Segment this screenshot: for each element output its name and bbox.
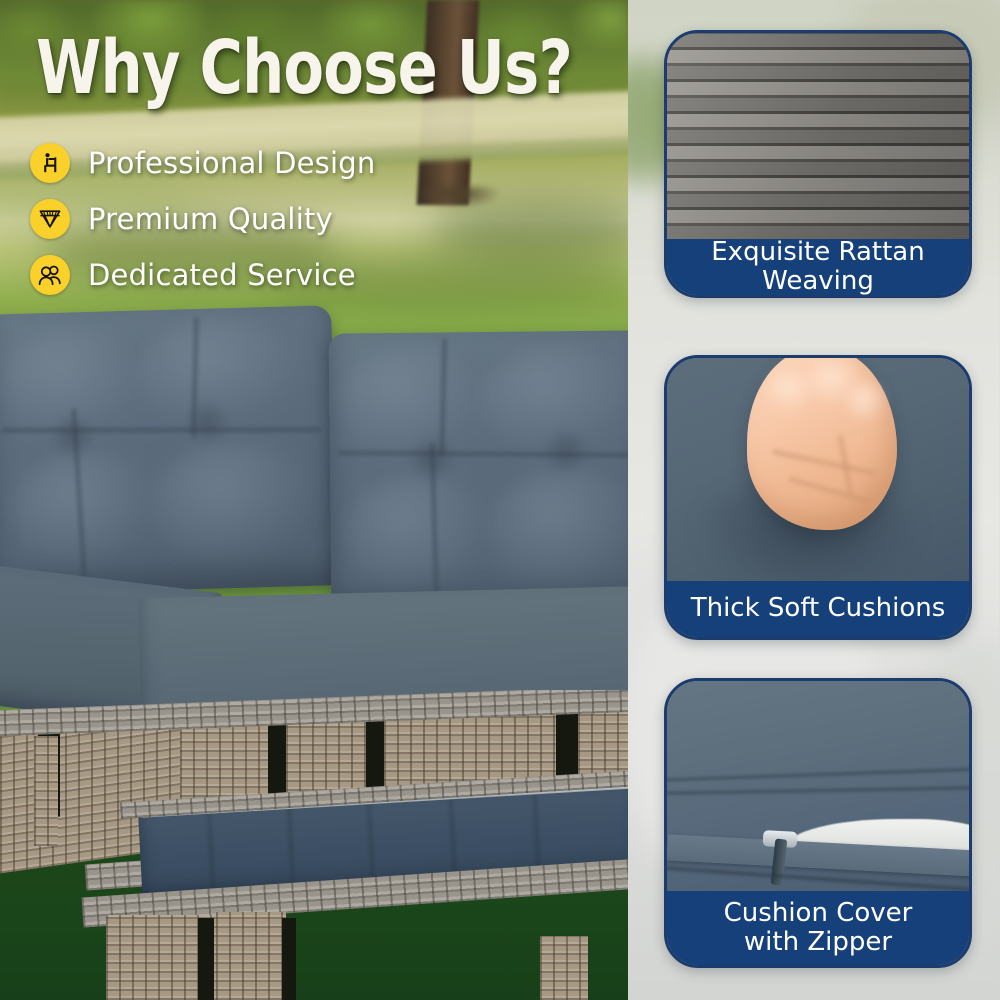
feature-card-thick-cushions[interactable]: Thick Soft Cushions <box>664 355 972 640</box>
rattan-weave-photo <box>667 33 969 239</box>
page-title: Why Choose Us? <box>36 31 572 105</box>
feature-card-cushion-cover-zipper[interactable]: Cushion Cover with Zipper <box>664 678 972 968</box>
feature-item-dedicated-service: Dedicated Service <box>30 252 450 298</box>
card-caption: Thick Soft Cushions <box>667 581 969 637</box>
feature-label: Premium Quality <box>88 202 333 236</box>
feature-card-rattan-weaving[interactable]: Exquisite Rattan Weaving <box>664 30 972 298</box>
product-lifestyle-photo: Why Choose Us? Professional Design <box>0 0 628 1000</box>
back-cushion-left <box>0 305 339 595</box>
two-people-icon <box>30 255 70 295</box>
rattan-leg-panel <box>216 912 286 1000</box>
feature-label: Professional Design <box>88 146 375 180</box>
feature-list: Professional Design Premium Quality <box>30 140 450 308</box>
zipper-photo <box>667 681 969 891</box>
diamond-icon <box>30 199 70 239</box>
feature-item-premium-quality: Premium Quality <box>30 196 450 242</box>
card-caption: Cushion Cover with Zipper <box>667 891 969 965</box>
back-cushion-right <box>329 330 628 613</box>
feature-label: Dedicated Service <box>88 258 356 292</box>
cushion-press-photo <box>667 358 969 581</box>
person-sitting-on-chair-icon <box>30 143 70 183</box>
hand-fist <box>747 358 897 530</box>
rattan-frame-base <box>0 690 628 1000</box>
rattan-leg <box>34 736 58 846</box>
rattan-leg-panel <box>540 936 588 1000</box>
feature-item-professional-design: Professional Design <box>30 140 450 186</box>
poster-canvas: Why Choose Us? Professional Design <box>0 0 1000 1000</box>
weave-shading <box>667 33 969 239</box>
card-caption: Exquisite Rattan Weaving <box>667 239 969 295</box>
